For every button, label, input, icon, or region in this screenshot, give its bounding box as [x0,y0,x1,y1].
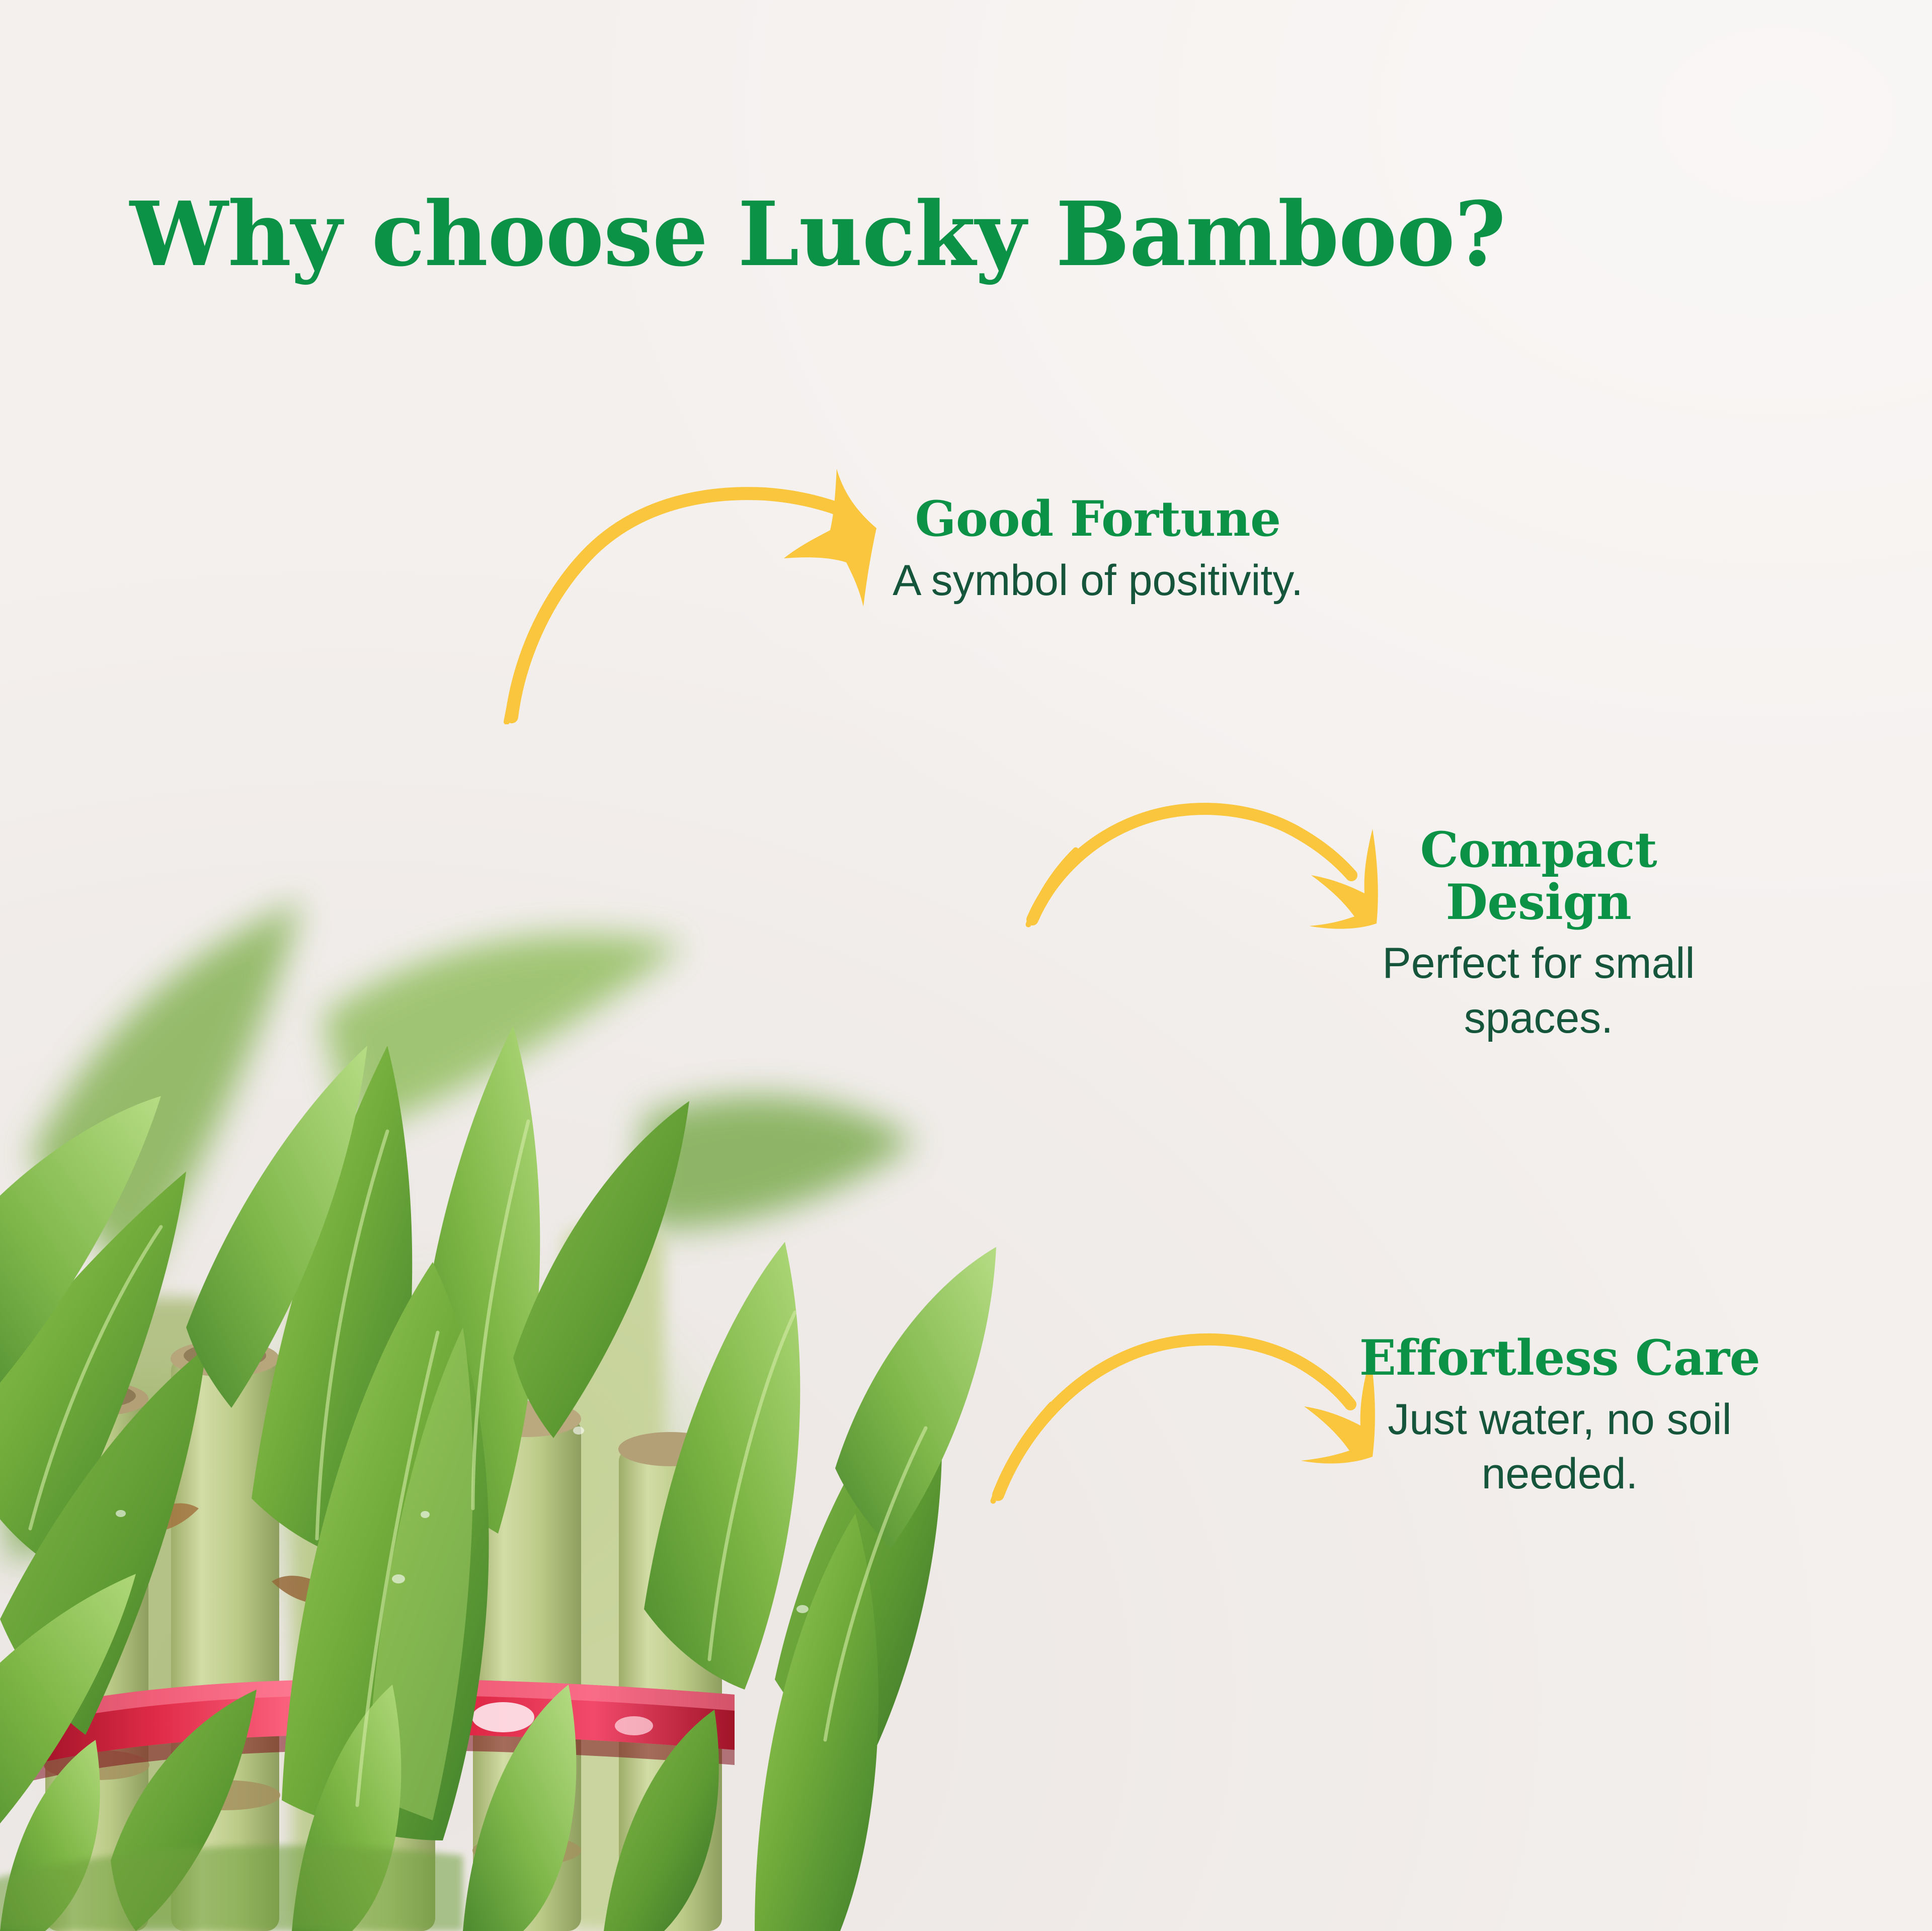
callout-1-body: A symbol of positivity. [876,553,1319,608]
callout-effortless-care: Effortless Care Just water, no soil need… [1348,1332,1771,1501]
callout-3-body: Just water, no soil needed. [1348,1392,1771,1501]
callout-good-fortune: Good Fortune A symbol of positivity. [876,493,1319,608]
curved-arrow-2-icon [1011,785,1394,931]
bamboo-plant-photo [0,663,1016,1931]
callout-compact-design: Compact Design Perfect for small spaces. [1337,824,1740,1045]
infographic-canvas: Why choose Lucky Bamboo? Good Fortune A … [0,0,1932,1931]
callout-2-heading: Compact Design [1337,824,1740,928]
page-title: Why choose Lucky Bamboo? [130,190,1505,279]
callout-3-heading: Effortless Care [1348,1332,1771,1384]
curved-arrow-3-icon [976,1308,1384,1509]
callout-1-heading: Good Fortune [876,493,1319,545]
callout-2-body: Perfect for small spaces. [1337,936,1740,1045]
